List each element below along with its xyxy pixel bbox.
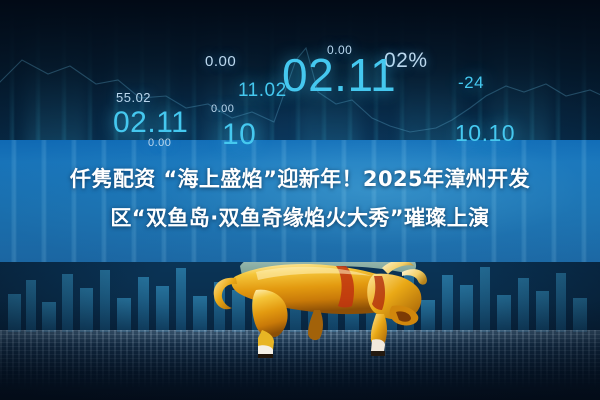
- headline-line-1: 仟隽配资 “海上盛焰”迎新年！2025年漳州开发: [70, 167, 530, 191]
- page-title: 仟隽配资 “海上盛焰”迎新年！2025年漳州开发 区“双鱼岛·双鱼奇缘焰火大秀”…: [0, 160, 600, 238]
- ticker-number: 0.00: [205, 53, 236, 70]
- ticker-number: 02.11: [282, 48, 396, 102]
- headline-line-2: 区“双鱼岛·双鱼奇缘焰火大秀”璀璨上演: [0, 199, 600, 238]
- ticker-number: 10.10: [455, 120, 515, 147]
- ticker-number: -24: [458, 73, 484, 93]
- ticker-number: 0.00: [211, 103, 234, 115]
- ticker-number: 02.11: [113, 106, 188, 140]
- banner-image: 0.0055.020.0011.020.0002%-2402.1102.11: [0, 0, 600, 400]
- ticker-number: 11.02: [238, 80, 287, 102]
- ticker-number: 10: [222, 118, 256, 152]
- ticker-number: 0.00: [148, 137, 171, 149]
- ticker-number: 55.02: [116, 90, 151, 105]
